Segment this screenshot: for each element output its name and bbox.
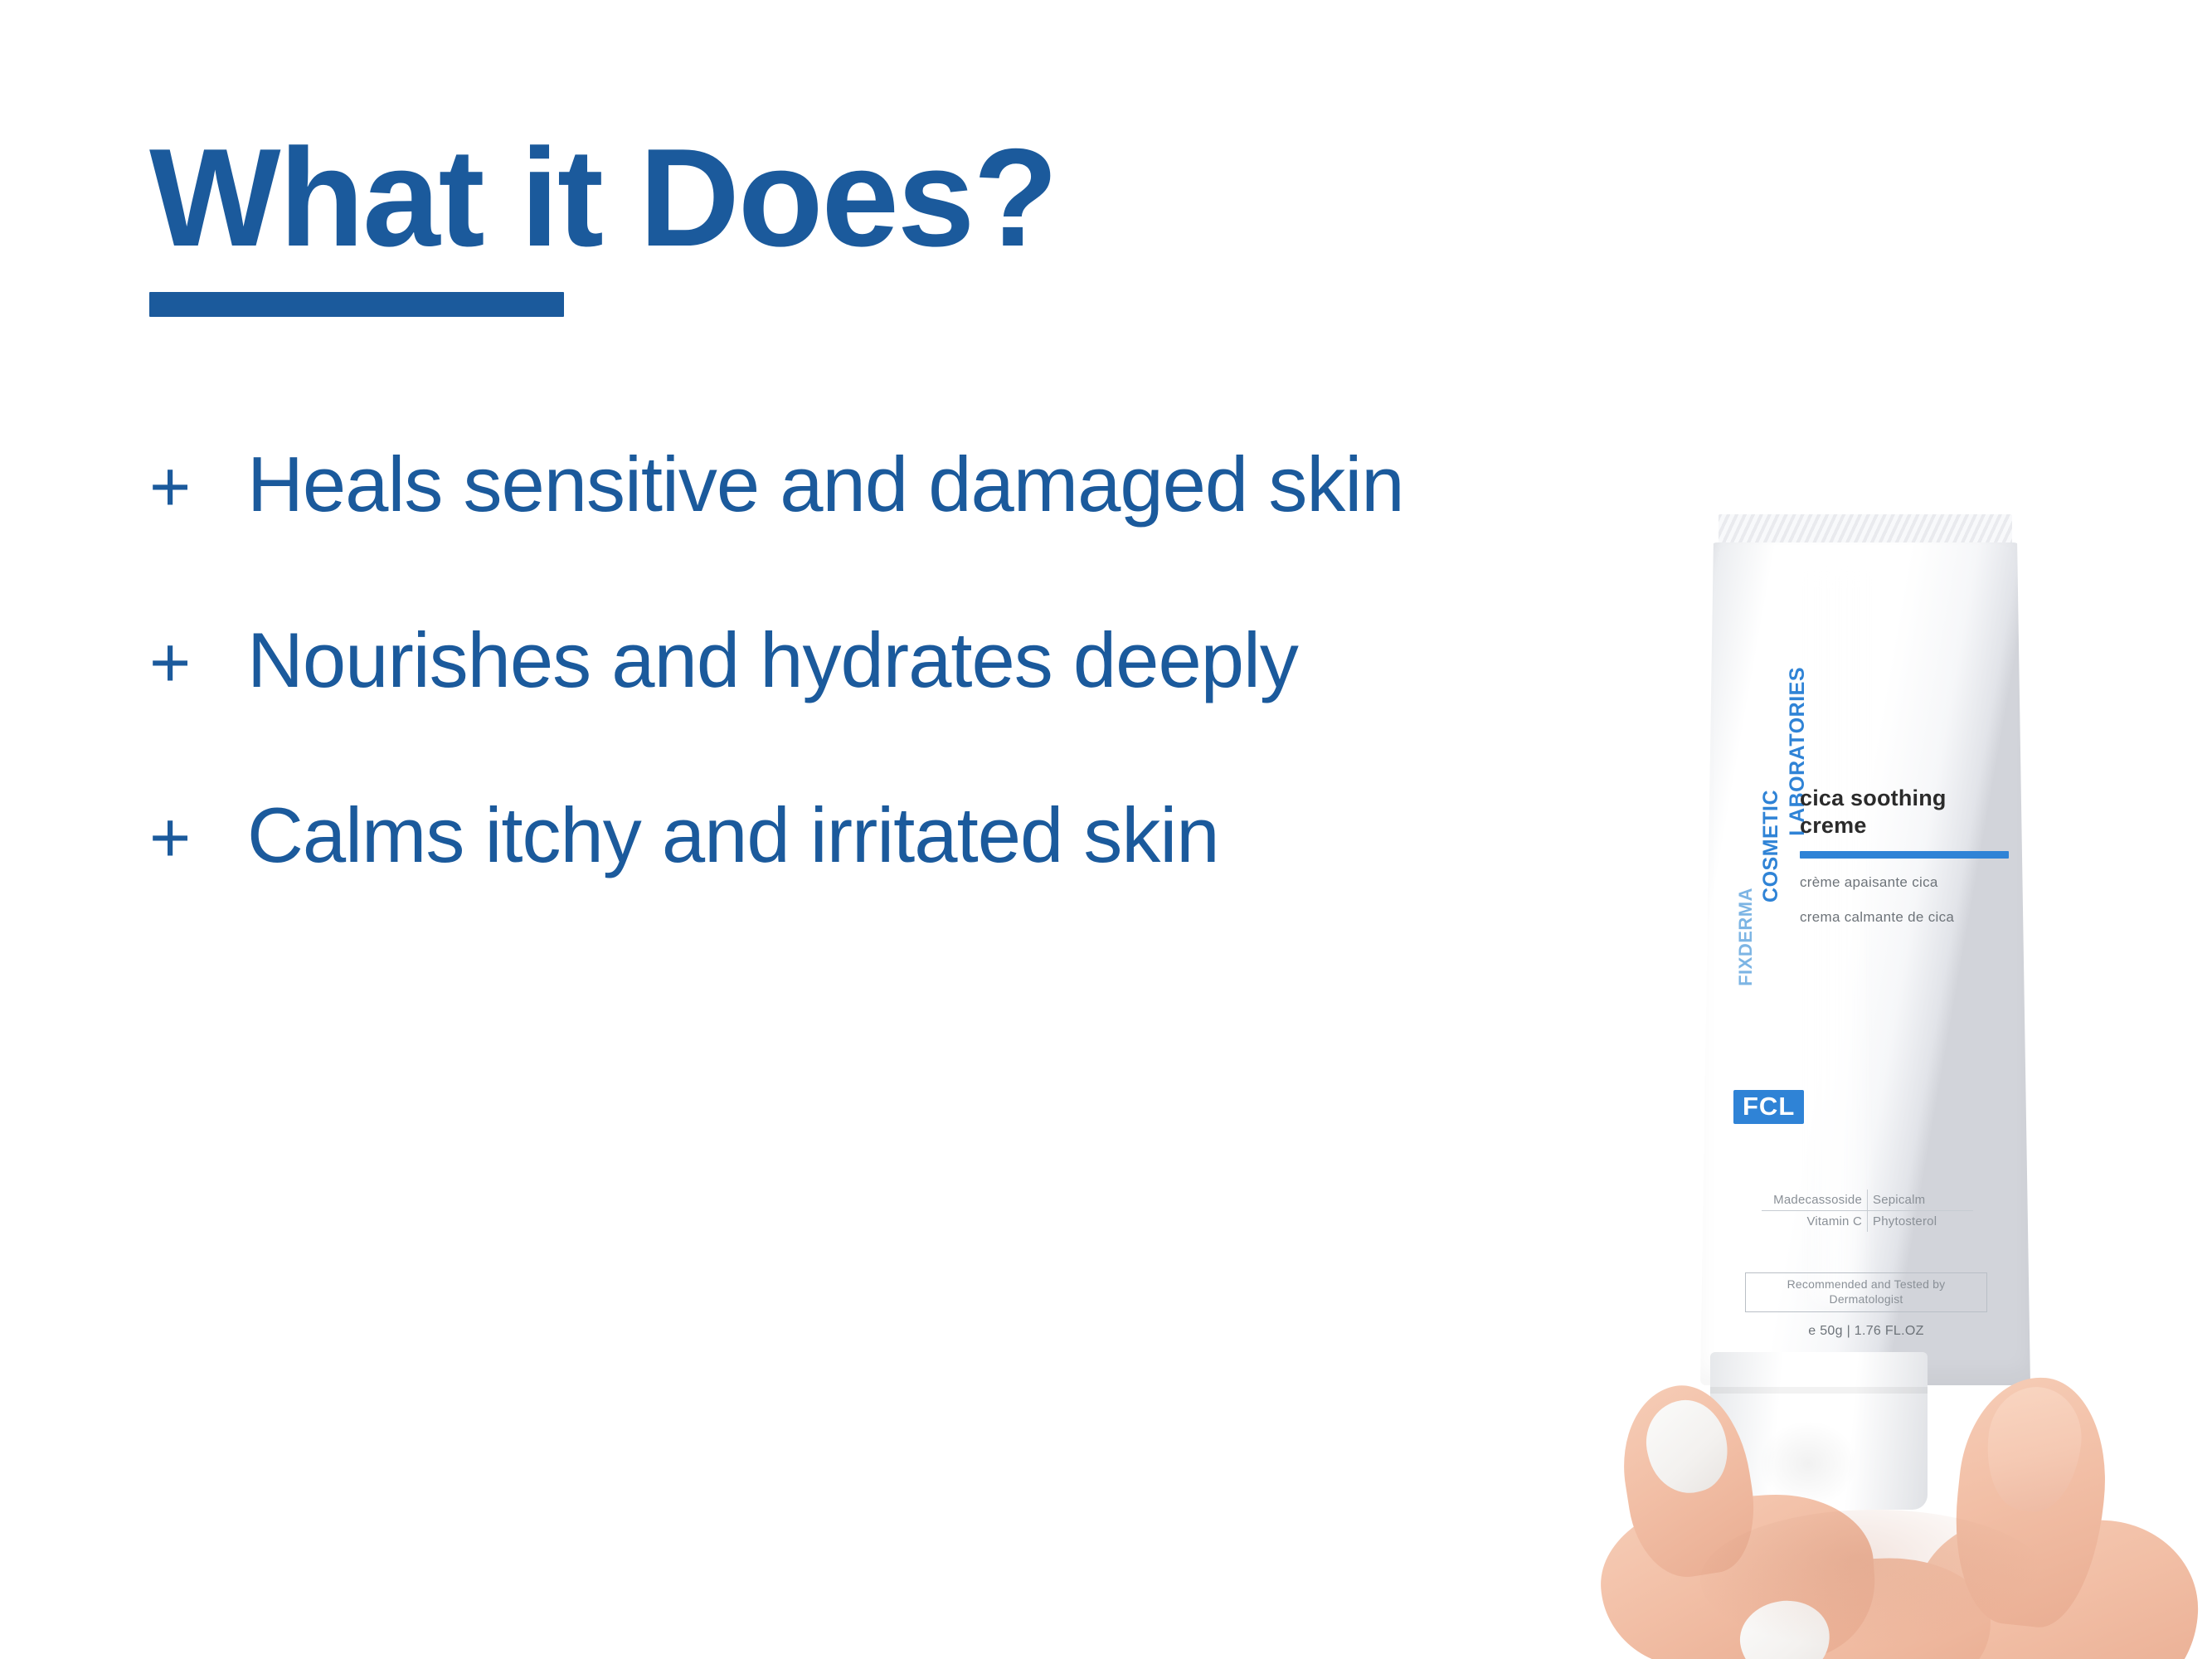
product-photo: LABORATORIES COSMETIC FIXDERMA FCL cica … (1601, 514, 2198, 1659)
fcl-logo-badge: FCL (1733, 1090, 1804, 1124)
ingredient-cell: Madecassoside (1762, 1190, 1868, 1210)
ingredient-table: Madecassoside Sepicalm Vitamin C Phytost… (1762, 1190, 1973, 1232)
product-name-rule (1800, 851, 2009, 859)
benefit-item: + Heals sensitive and damaged skin (149, 441, 1642, 527)
benefit-label: Calms itchy and irritated skin (247, 792, 1219, 878)
tube-cap-ring (1710, 1387, 1928, 1394)
ingredient-row: Madecassoside Sepicalm (1762, 1190, 1973, 1211)
benefit-label: Nourishes and hydrates deeply (247, 617, 1298, 703)
product-name: cica soothing creme (1800, 785, 2007, 839)
product-tube: LABORATORIES COSMETIC FIXDERMA FCL cica … (1700, 514, 2030, 1385)
plus-icon: + (149, 451, 247, 523)
ingredient-row: Vitamin C Phytosterol (1762, 1211, 1973, 1232)
product-benefits-slide: What it Does? + Heals sensitive and dama… (0, 0, 2212, 1659)
product-subname-es: crema calmante de cica (1800, 909, 1954, 926)
brand-cosmetic-text: COSMETIC (1759, 790, 1783, 902)
title-underline-rule (149, 292, 564, 317)
hand-holding-product (1601, 1352, 2198, 1659)
benefit-list: + Heals sensitive and damaged skin + Nou… (149, 441, 1642, 878)
ingredient-cell: Sepicalm (1868, 1190, 1973, 1210)
copy-block: What it Does? + Heals sensitive and dama… (149, 124, 1642, 968)
ingredient-cell: Phytosterol (1868, 1211, 1973, 1232)
product-subname-fr: crème apaisante cica (1800, 874, 1938, 891)
net-weight-text: e 50g | 1.76 FL.OZ (1745, 1324, 1987, 1339)
ingredient-cell: Vitamin C (1762, 1211, 1868, 1232)
plus-icon: + (149, 802, 247, 873)
benefit-label: Heals sensitive and damaged skin (247, 441, 1403, 527)
plus-icon: + (149, 627, 247, 698)
dermatologist-claim-box: Recommended and Tested by Dermatologist (1745, 1272, 1987, 1312)
benefit-item: + Calms itchy and irritated skin (149, 792, 1642, 878)
brand-fixderma-text: FIXDERMA (1735, 888, 1757, 986)
tube-label: LABORATORIES COSMETIC FIXDERMA FCL cica … (1700, 542, 2030, 1385)
page-title: What it Does? (149, 124, 1642, 270)
benefit-item: + Nourishes and hydrates deeply (149, 617, 1642, 703)
tube-crimp-seal (1719, 514, 2012, 546)
